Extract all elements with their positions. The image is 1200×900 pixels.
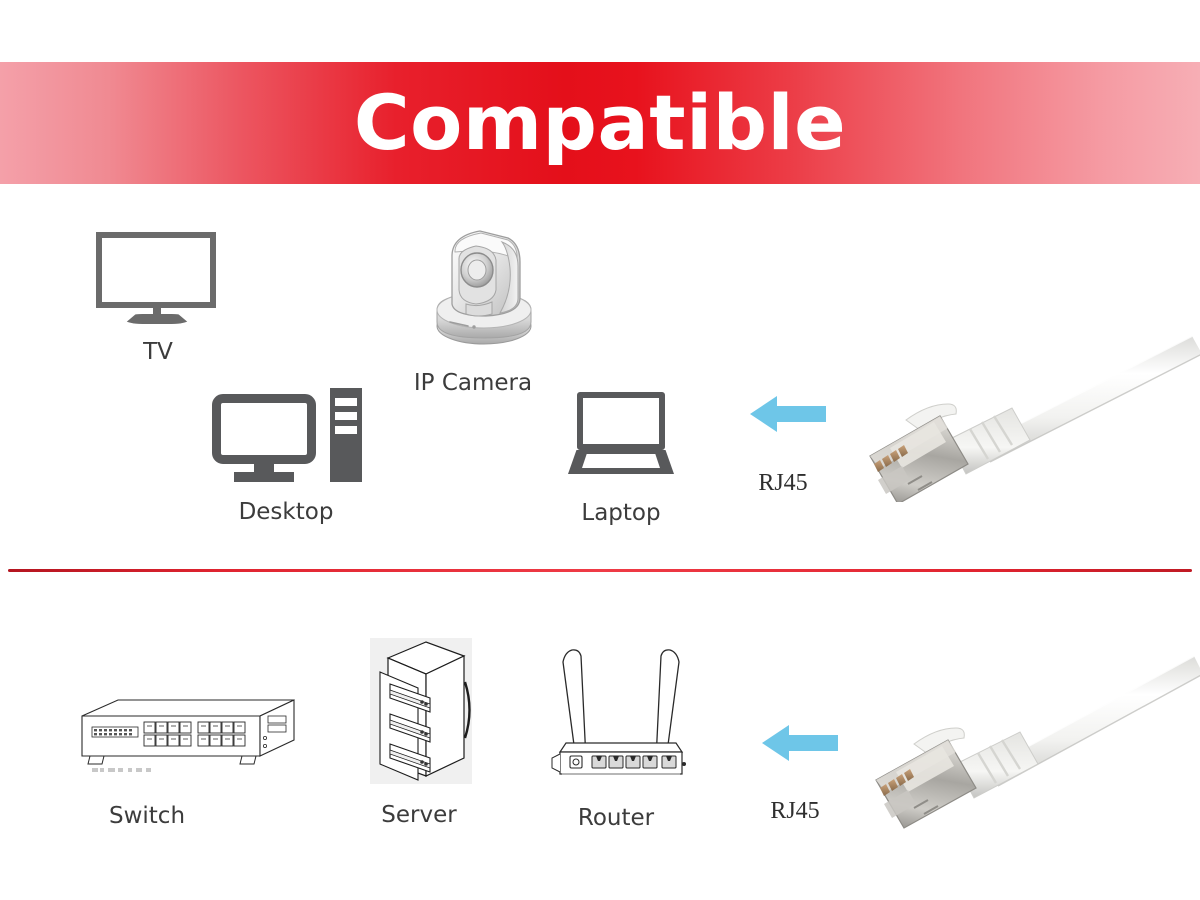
laptop-keyboard-area	[582, 454, 660, 468]
desktop-tower	[330, 388, 362, 482]
laptop-label: Laptop	[581, 500, 660, 526]
desktop-monitor-foot	[234, 472, 294, 482]
section-divider	[8, 569, 1192, 572]
wifi-router-icon	[548, 640, 694, 788]
rj45-label-bottom: RJ45	[770, 798, 819, 825]
switch-label: Switch	[109, 803, 185, 829]
desktop-icon	[212, 388, 364, 484]
laptop-screen	[577, 392, 665, 450]
router-label: Router	[578, 805, 654, 831]
rj45-patch-cable-top	[862, 332, 1200, 502]
server-label: Server	[381, 802, 456, 828]
compatibility-infographic: Compatible TV	[0, 0, 1200, 900]
network-switch-icon	[56, 694, 296, 778]
ip-camera-label: IP Camera	[414, 370, 532, 396]
page-title: Compatible	[354, 85, 846, 161]
header-banner: Compatible	[0, 62, 1200, 184]
laptop-icon	[568, 392, 676, 478]
arrow-left-icon-bottom	[762, 722, 838, 764]
rj45-patch-cable-bottom	[862, 650, 1200, 830]
tv-label: TV	[143, 339, 173, 365]
tv-icon	[96, 232, 224, 328]
desktop-label: Desktop	[239, 499, 334, 525]
rj45-label-top: RJ45	[758, 470, 807, 497]
desktop-drive-bay	[335, 412, 357, 420]
tv-stand	[124, 314, 190, 324]
server-rack-icon	[370, 638, 472, 784]
desktop-drive-bay	[335, 398, 357, 406]
arrow-left-icon	[750, 393, 826, 435]
desktop-monitor	[212, 394, 316, 464]
tv-screen	[96, 232, 216, 308]
ip-camera-icon	[424, 222, 544, 350]
desktop-drive-bay	[335, 426, 357, 434]
